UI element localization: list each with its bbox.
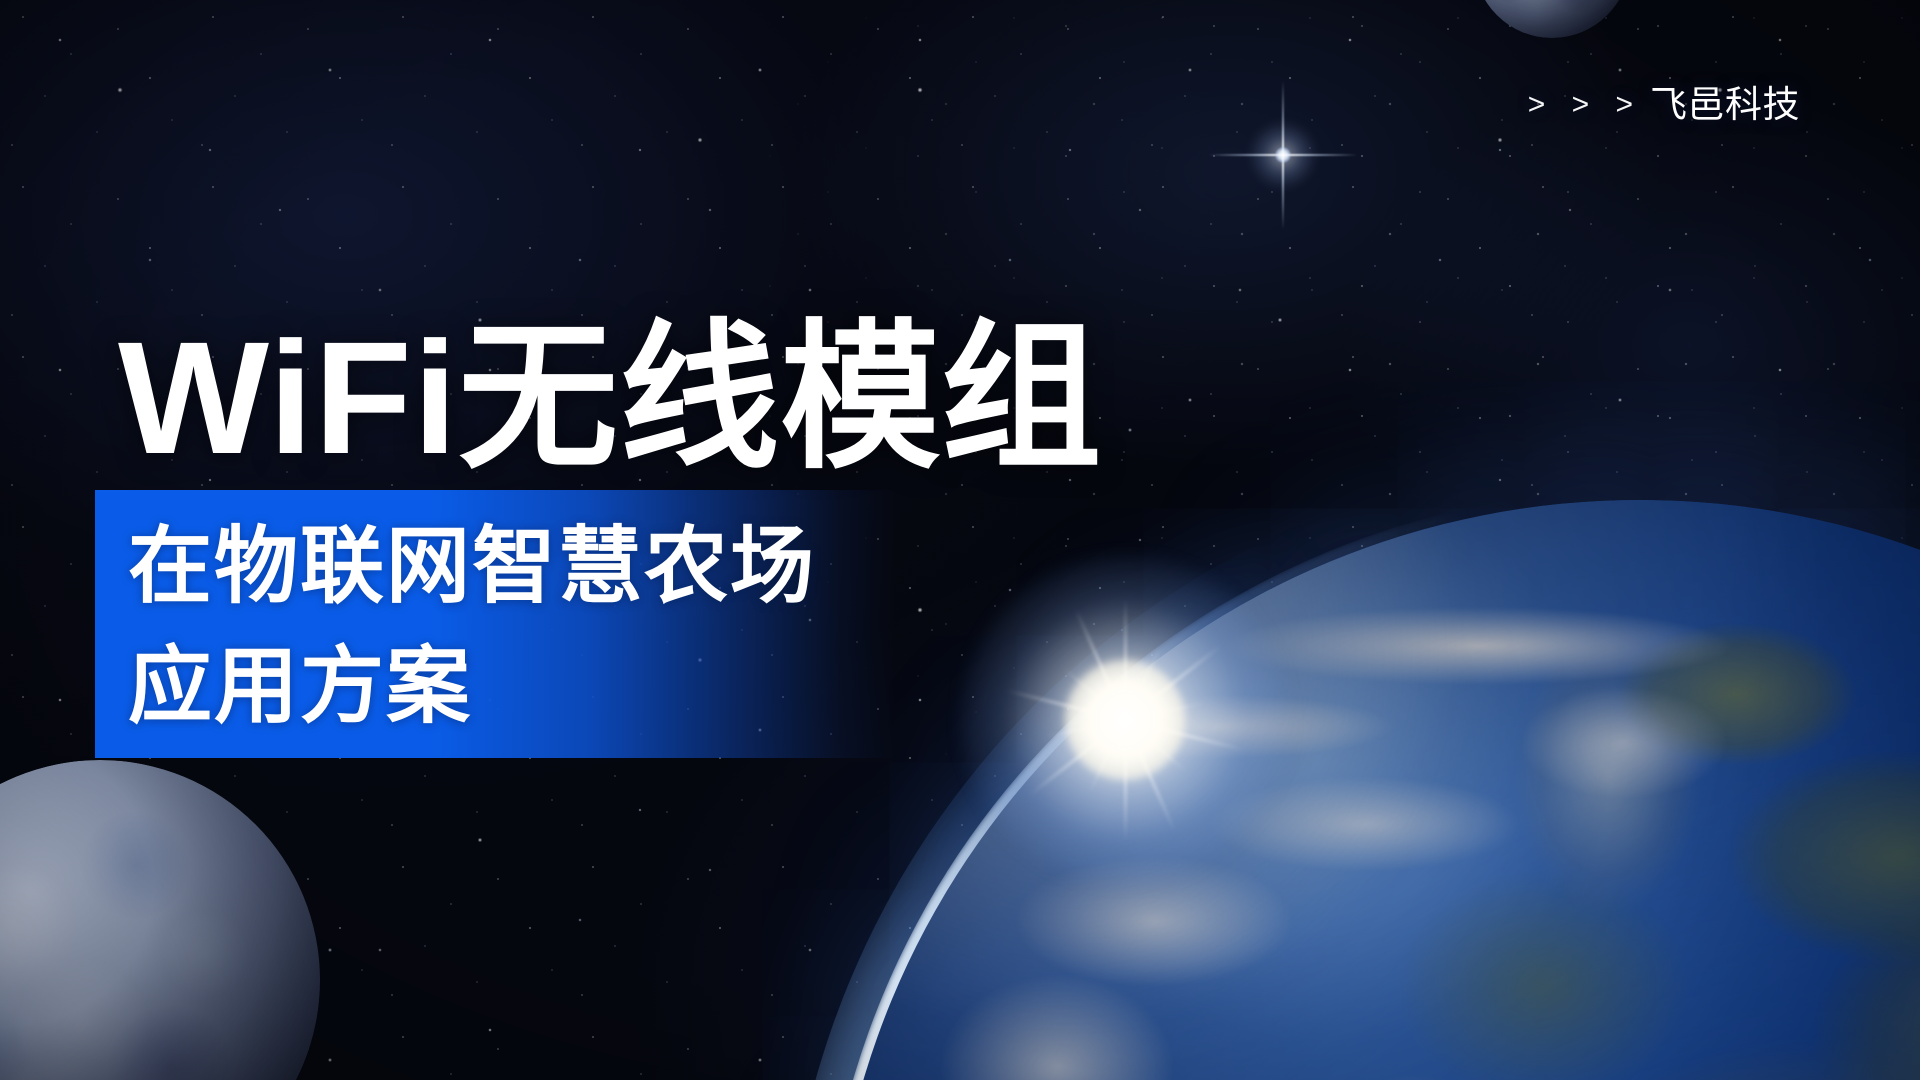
chevron-right-icon: > > > xyxy=(1528,90,1642,120)
brand-name: 飞邑科技 xyxy=(1650,86,1800,123)
page-title: WiFi无线模组 xyxy=(118,318,1102,478)
subtitle-text-block: 在物联网智慧农场 应用方案 xyxy=(128,506,888,746)
subtitle-line-1: 在物联网智慧农场 xyxy=(128,506,888,626)
poster-canvas: > > > 飞邑科技 WiFi无线模组 在物联网智慧农场 应用方案 xyxy=(0,0,1920,1080)
brand-logo[interactable]: > > > 飞邑科技 xyxy=(1528,86,1800,123)
subtitle-line-2: 应用方案 xyxy=(128,626,888,746)
